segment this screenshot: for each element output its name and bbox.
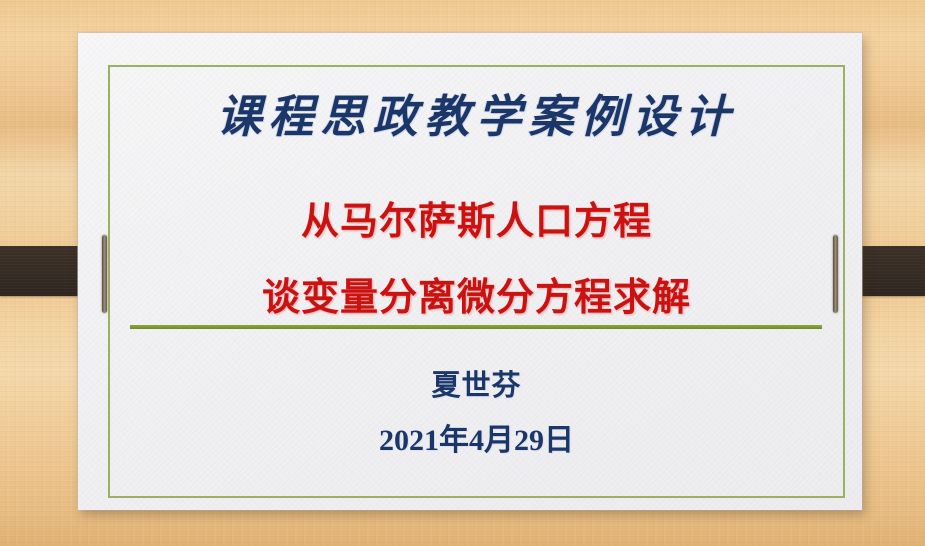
- slide-subtitle-line-2: 谈变量分离微分方程求解: [108, 266, 845, 321]
- slide-subtitle-line-1: 从马尔萨斯人口方程: [108, 190, 845, 245]
- slide-author-name: 夏世芬: [108, 362, 845, 404]
- clamp-bar-left: [102, 235, 107, 313]
- slide-date: 2021年4月29日: [108, 415, 845, 459]
- presentation-slide-stage: 课程思政教学案例设计 从马尔萨斯人口方程 谈变量分离微分方程求解 夏世芬 202…: [0, 0, 925, 546]
- slide-content: 课程思政教学案例设计 从马尔萨斯人口方程 谈变量分离微分方程求解 夏世芬 202…: [108, 65, 845, 498]
- slide-main-title: 课程思政教学案例设计: [108, 80, 845, 145]
- horizontal-divider: [130, 325, 822, 329]
